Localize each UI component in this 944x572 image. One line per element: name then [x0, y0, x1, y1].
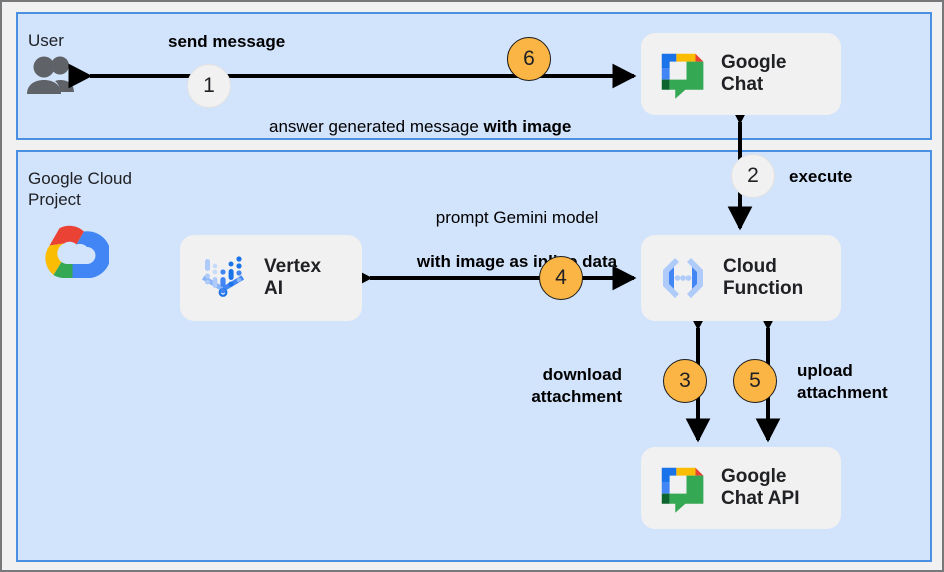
google-cloud-icon [35, 223, 109, 283]
step-badge-3: 3 [663, 359, 707, 403]
answer-text-prefix: answer generated message [269, 117, 484, 136]
step-badge-1: 1 [187, 64, 231, 108]
node-google-chat-api[interactable]: Google Chat API [641, 447, 841, 529]
prompt-line-1: prompt Gemini model [347, 207, 687, 229]
vertex-ai-icon [194, 249, 252, 307]
step-badge-5: 5 [733, 359, 777, 403]
edge-label-send-message: send message [168, 31, 285, 53]
node-vertex-ai-label: Vertex AI [264, 256, 321, 301]
diagram-canvas: User Google Cloud Project G [0, 0, 944, 572]
answer-text-bold: with image [484, 117, 572, 136]
step-badge-6: 6 [507, 37, 551, 81]
google-cloud-project-panel-label: Google Cloud Project [28, 168, 132, 211]
users-icon [24, 54, 78, 98]
node-google-chat-api-label: Google Chat API [721, 466, 799, 511]
user-panel-label: User [28, 30, 64, 51]
prompt-line-2: with image as inline data [347, 251, 687, 273]
google-chat-icon [655, 461, 709, 515]
edge-label-execute: execute [789, 166, 852, 188]
step-badge-2: 2 [731, 154, 775, 198]
node-vertex-ai[interactable]: Vertex AI [180, 235, 362, 321]
step-badge-4: 4 [539, 256, 583, 300]
node-google-chat[interactable]: Google Chat [641, 33, 841, 115]
node-cloud-function-label: Cloud Function [723, 256, 803, 301]
edge-label-answer-generated-message: answer generated message with image [269, 94, 571, 138]
edge-label-download-attachment: download attachment [472, 364, 622, 408]
edge-label-prompt-gemini: prompt Gemini model with image as inline… [347, 185, 687, 295]
google-chat-icon [655, 47, 709, 101]
edge-label-upload-attachment: upload attachment [797, 360, 937, 404]
node-google-chat-label: Google Chat [721, 52, 786, 97]
